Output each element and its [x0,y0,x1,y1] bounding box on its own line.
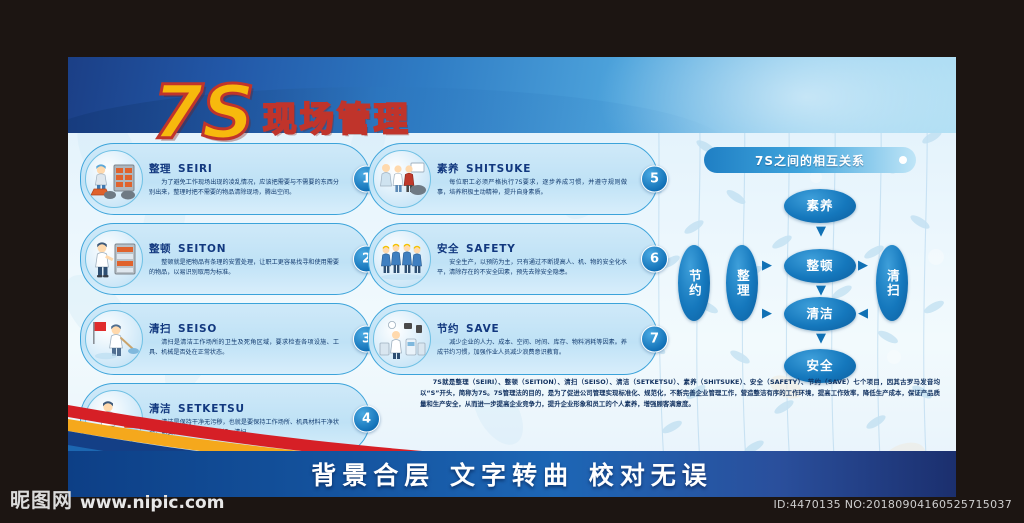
item-card-1-body: 整理SEIRI 为了避免工作现场出现的凌乱情况，应该把需要与不需要的东西分别出来… [143,158,369,200]
diagram-node-zhengdun[interactable]: 整顿 [784,249,856,283]
worker-cleaning-floor-icon [85,390,143,448]
item-card-6-body: 安全SAFETY 安全生产，以预防为主，只有通过不断提高人、机、物的安全化水平，… [431,238,657,280]
item-card-7-cn: 节约 [437,323,459,335]
header-light-glow [596,57,956,133]
item-card-5-desc: 每位职工必须严格执行7S要求，逐步养成习惯，并遵守规则做事，培养积极主动精神，提… [437,178,627,197]
item-card-3-en: SEISO [178,323,217,335]
item-card-5-cn: 素养 [437,163,459,175]
item-card-7-body: 节约SAVE 减少企业的人力、成本、空间、时间、库存、物料消耗等因素。养成节约习… [431,318,657,360]
item-card-2-cn: 整顿 [149,243,171,255]
item-card-4[interactable]: 清洁SETKETSU 清洁是保持干净无污秽，也就是要保持工作场所、机具材料干净状… [80,383,370,455]
arrow-qingsao-to-qingjie: ◀ [858,307,868,320]
item-card-2-body: 整顿SEITON 整顿就是把物品有条理的安置处理，让职工更容易找寻和使用需要的物… [143,238,369,280]
item-card-1-desc: 为了避免工作现场出现的凌乱情况，应该把需要与不需要的东西分别出来，整理时把不需要… [149,178,339,197]
poster-title: 7S 现场管理 [152,79,411,147]
item-card-3-desc: 清扫是清洁工作场所的卫生及死角区域，要求检查各项设施、工具、机械是否处在正常状态… [149,338,339,357]
item-card-4-body: 清洁SETKETSU 清洁是保持干净无污秽，也就是要保持工作场所、机具材料干净状… [143,398,369,440]
arrow-zhengli-to-zhengdun: ▶ [762,259,772,272]
item-card-7-en: SAVE [466,323,499,335]
arrow-suyang-to-zhengdun: ▼ [816,225,826,238]
arrow-zhengli-to-qingjie: ▶ [762,307,772,320]
arrow-zhengdun-to-qingsao: ▶ [858,259,868,272]
item-card-5[interactable]: 素养SHITSUKE 每位职工必须严格执行7S要求，逐步养成习惯，并遵守规则做事… [368,143,658,215]
item-card-1-cn: 整理 [149,163,171,175]
watermark-site-url: www.nipic.com [80,493,224,513]
item-card-2-en: SEITON [178,243,226,255]
item-card-1-heading: 整理SEIRI [149,161,339,176]
item-card-1-en: SEIRI [178,163,213,175]
item-card-3-heading: 清扫SEISO [149,321,339,336]
item-card-6-en: SAFETY [466,243,516,255]
worker-arranging-cabinet-icon [85,230,143,288]
diagram-node-jieyue[interactable]: 节约 [678,245,710,321]
items-column-left: 整理SEIRI 为了避免工作现场出现的凌乱情况，应该把需要与不需要的东西分别出来… [80,143,370,463]
item-card-6-cn: 安全 [437,243,459,255]
item-card-7[interactable]: 节约SAVE 减少企业的人力、成本、空间、时间、库存、物料消耗等因素。养成节约习… [368,303,658,375]
worker-sorting-shelf-icon [85,150,143,208]
item-card-4-en: SETKETSU [178,403,245,415]
diagram-nodes-area: 节约 整理 素养 整顿 清洁 清扫 安全 ▼ ▼ ▼ ▶ ▶ ▶ ◀ [664,173,956,388]
item-card-6-heading: 安全SAFETY [437,241,627,256]
arrow-zhengdun-to-qingjie: ▼ [816,284,826,297]
item-badge-4: 4 [353,406,380,433]
item-card-6[interactable]: 安全SAFETY 安全生产，以预防为主，只有通过不断提高人、机、物的安全化水平，… [368,223,658,295]
item-card-6-desc: 安全生产，以预防为主，只有通过不断提高人、机、物的安全化水平，清除存在的不安全因… [437,258,627,277]
safety-workers-icon [373,230,431,288]
item-card-4-desc: 清洁是保持干净无污秽，也就是要保持工作场所、机具材料干净状态，需要持续保持整理、… [149,418,339,437]
diagram-node-zhengli[interactable]: 整理 [726,245,758,321]
item-card-3-cn: 清扫 [149,323,171,335]
title-7s: 7S [152,79,253,147]
bottom-banner-text: 背景合层 文字转曲 校对无误 [311,456,712,492]
item-card-3[interactable]: 清扫SEISO 清扫是清洁工作场所的卫生及死角区域，要求检查各项设施、工具、机械… [80,303,370,375]
worker-mopping-icon [85,310,143,368]
diagram-node-suyang[interactable]: 素养 [784,189,856,223]
diagram-title: 7S之间的相互关系 [704,147,916,173]
watermark-site-cn: 昵图网 [10,484,73,513]
summary-paragraph: 7S就是整理（SEIRI）、整顿（SEITION）、清扫（SEISO）、清洁（S… [420,377,940,411]
item-card-5-en: SHITSUKE [466,163,531,175]
item-card-5-heading: 素养SHITSUKE [437,161,627,176]
diagram-node-qingjie[interactable]: 清洁 [784,297,856,331]
relationship-diagram: 7S之间的相互关系 节约 整理 素养 整顿 清洁 清扫 安全 ▼ ▼ ▼ ▶ ▶… [664,143,956,393]
screenshot-root: 7S 现场管理 [0,0,1024,523]
item-card-2-heading: 整顿SEITON [149,241,339,256]
item-card-7-desc: 减少企业的人力、成本、空间、时间、库存、物料消耗等因素。养成节约习惯，加强作业人… [437,338,627,357]
people-group-icon [373,150,431,208]
item-card-4-cn: 清洁 [149,403,171,415]
diagram-node-qingsao[interactable]: 清扫 [876,245,908,321]
title-chinese: 现场管理 [263,92,411,141]
item-card-2[interactable]: 整顿SEITON 整顿就是把物品有条理的安置处理，让职工更容易找寻和使用需要的物… [80,223,370,295]
items-column-right: 素养SHITSUKE 每位职工必须严格执行7S要求，逐步养成习惯，并遵守规则做事… [368,143,658,383]
item-card-5-body: 素养SHITSUKE 每位职工必须严格执行7S要求，逐步养成习惯，并遵守规则做事… [431,158,657,200]
save-resources-icon [373,310,431,368]
watermark: 昵图网 www.nipic.com [10,484,224,513]
poster-canvas: 7S 现场管理 [68,57,956,497]
item-card-7-heading: 节约SAVE [437,321,627,336]
arrow-qingjie-to-anquan: ▼ [816,332,826,345]
image-id-text: ID:4470135 NO:20180904160525715037 [774,498,1012,511]
item-card-4-heading: 清洁SETKETSU [149,401,339,416]
item-card-2-desc: 整顿就是把物品有条理的安置处理，让职工更容易找寻和使用需要的物品，以易识别取用为… [149,258,339,277]
item-card-3-body: 清扫SEISO 清扫是清洁工作场所的卫生及死角区域，要求检查各项设施、工具、机械… [143,318,369,360]
